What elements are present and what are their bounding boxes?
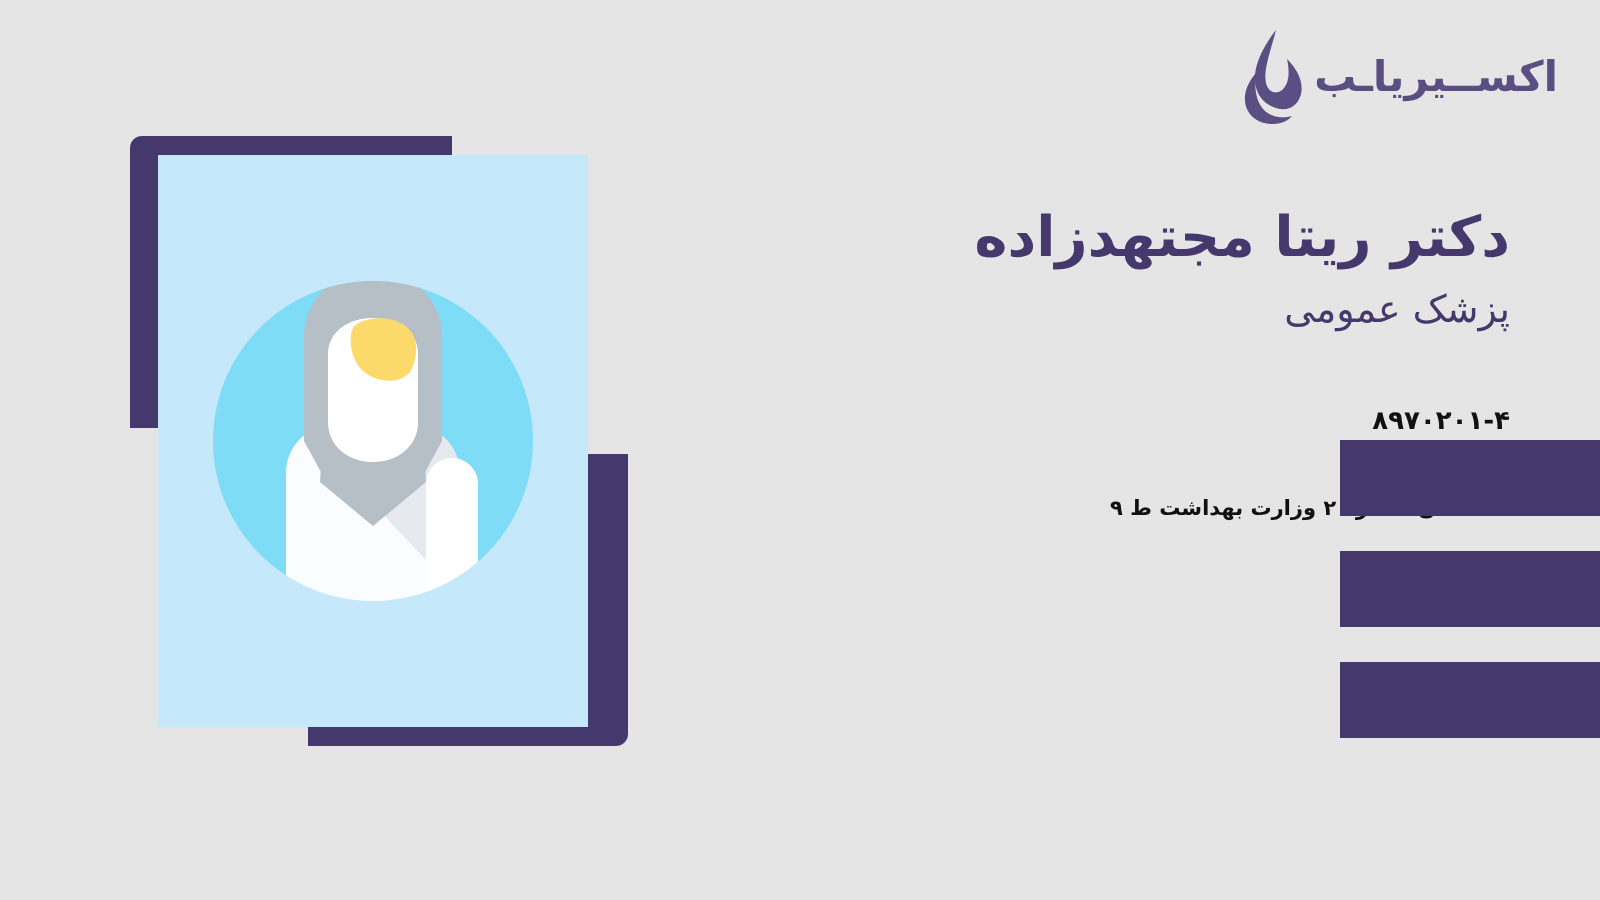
decorative-bar-2 [1340,551,1600,627]
doctor-photo-card [158,155,588,727]
decorative-bar-3 [1340,662,1600,738]
doctor-avatar-illustration [158,226,588,656]
doctor-photo-block [130,136,630,746]
decorative-bar-1 [1340,440,1600,516]
brand-logo[interactable]: اکســیریاـب [1232,28,1558,126]
flame-drop-icon [1232,28,1304,126]
doctor-phone[interactable]: ۸۹۷۰۲۰۱-۴ [810,406,1510,436]
business-card-canvas: اکســیریاـب [0,0,1600,900]
doctor-specialty: پزشک عمومی [810,285,1510,334]
page-title: دکتر ریتا مجتهدزاده [810,205,1510,271]
brand-wordmark: اکســیریاـب [1314,56,1558,98]
